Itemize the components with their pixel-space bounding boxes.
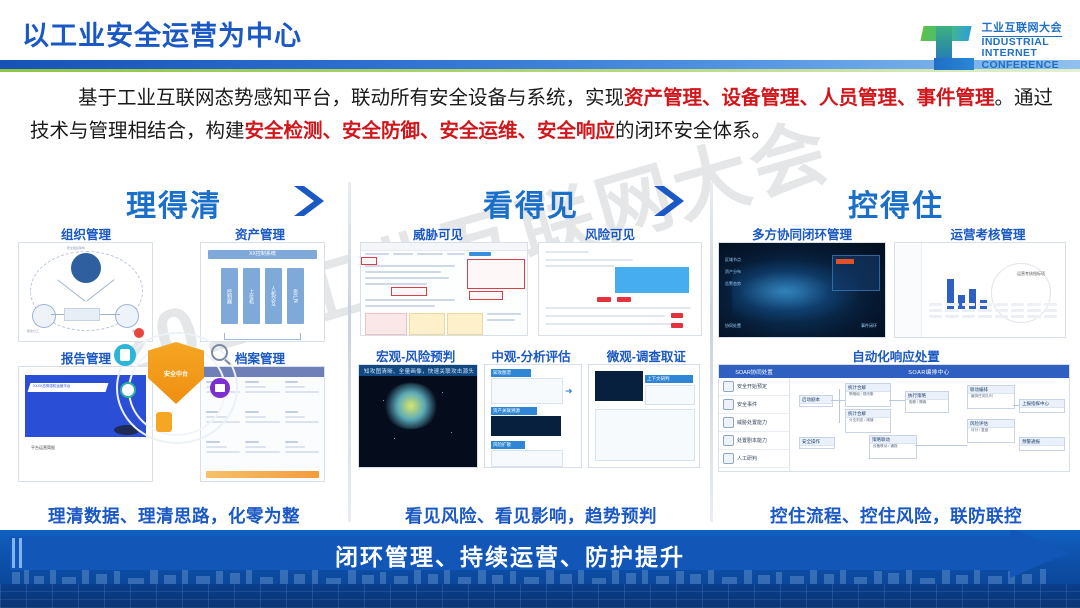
label-risk-visible: 风险可见: [550, 224, 670, 243]
label-micro-investigation: 微观-调查取证: [589, 346, 704, 365]
soar-sidebar-label-4: 人工研判: [737, 455, 757, 462]
soar-sidebar-label-2: 威胁处置能力: [737, 419, 767, 426]
column-2-header: 看得见: [358, 180, 704, 226]
slide-root: 以工业安全运营为中心 工业互联网大会 INDUSTRIAL INTERNET C…: [0, 0, 1080, 608]
asset-item-2: 人机交互: [265, 268, 282, 324]
soar-node-5[interactable]: 策略联动 设备联动 / 通报: [869, 435, 917, 459]
soar-node-2[interactable]: 统计合解 分支判定 / 阈值: [845, 409, 891, 433]
conference-logo: 工业互联网大会 INDUSTRIAL INTERNET CONFERENCE: [916, 22, 1063, 72]
intro-paragraph: 基于工业互联网态势感知平台，联动所有安全设备与系统，实现资产管理、设备管理、人员…: [30, 82, 1054, 148]
soar-sidebar[interactable]: SOAR协同处置 安全开始预定 安全事件 威胁处置能: [719, 365, 790, 471]
column-divider-2: [710, 182, 713, 522]
soar-sidebar-item-3[interactable]: 处置剧本能力: [719, 432, 789, 450]
soar-node-1[interactable]: 统计合解 策略组 / 规则集: [845, 383, 891, 407]
column-divider-1: [348, 182, 351, 522]
column-2-row-2: 宏观-风险预判 中观-分析评估 微观-调查取证 知攻图清晰、全量画像，快速关联攻…: [358, 346, 704, 492]
label-operation-assessment: 运营考核管理: [908, 224, 1068, 243]
label-asset-management: 资产管理: [200, 224, 320, 243]
soar-node-6[interactable]: 联动编排 编排任务队列: [967, 385, 1015, 409]
screenshot-evidence-panel[interactable]: 上下文研判: [588, 364, 700, 468]
soar-node-0[interactable]: 启动剧本: [799, 395, 833, 407]
screenshot-situation-map[interactable]: 区域节点 资产分布 告警态势 协同处置 事件闭环: [718, 242, 886, 338]
soar-node-label-0: 启动剧本: [800, 396, 832, 404]
column-3-row-1: 多方协同闭环管理 运营考核管理 区域节点 资产分布 告警态势 协同处置 事件闭环: [718, 224, 1074, 350]
logo-title-cn: 工业互联网大会: [982, 23, 1063, 37]
soar-node-label-4: 安全操作: [800, 438, 834, 446]
security-platform-cluster: 安全中台: [112, 326, 240, 446]
soar-node-9[interactable]: 预警通报: [1019, 437, 1065, 451]
soar-node-label-2: 统计合解: [846, 410, 890, 418]
label-automated-response: 自动化响应处置: [718, 346, 1074, 365]
label-multiparty-closed-loop: 多方协同闭环管理: [722, 224, 882, 243]
attack-graph-banner: 知攻图清晰、全量画像，快速关联攻击源头: [359, 365, 477, 376]
column-3-header: 控得住: [718, 180, 1074, 226]
soar-node-label-5: 策略联动: [870, 436, 916, 444]
label-threat-visible: 威胁可见: [378, 224, 498, 243]
bottom-banner: 闭环管理、持续运营、防护提升: [0, 530, 1080, 608]
alert-dot-icon: [134, 328, 144, 338]
folder-icon: [156, 412, 172, 432]
soar-node-label-6: 联动编排: [968, 386, 1014, 394]
paragraph-segment-3: 的闭环安全体系。: [615, 120, 771, 142]
banner-text: 闭环管理、持续运营、防护提升: [0, 538, 1020, 572]
soar-sidebar-label-0: 安全开始预定: [737, 383, 767, 390]
soar-sidebar-header: SOAR协同处置: [719, 365, 789, 378]
playbook-icon: [723, 435, 734, 446]
asset-diagram-header: XX控制系统: [208, 250, 317, 259]
soar-sidebar-item-1[interactable]: 安全事件: [719, 396, 789, 414]
soar-main-header: SOAR编排中心: [789, 365, 1069, 378]
screenshot-kpi-report[interactable]: 运营考核指标项: [894, 242, 1066, 338]
people-icon: [723, 453, 734, 464]
column-controllable: 控得住 多方协同闭环管理 运营考核管理 区域节点 资产分布 告警态势 协同处置 …: [718, 180, 1074, 530]
soar-node-4[interactable]: 安全操作: [799, 437, 835, 449]
flow-card-label-0: 知攻图谱: [491, 369, 531, 377]
threat-icon: [723, 417, 734, 428]
screenshot-soar-console[interactable]: SOAR协同处置 安全开始预定 安全事件 威胁处置能: [718, 364, 1070, 472]
asset-diagram-items: 控制器 上位机 人机交互 资产N: [208, 268, 317, 324]
paragraph-highlight-1: 资产管理、设备管理、人员管理、事件管理: [624, 87, 995, 109]
column-3-row-2: 自动化响应处置 SOAR协同处置 安全开始预定 安全事件: [718, 346, 1074, 492]
column-2-tri-labels: 宏观-风险预判 中观-分析评估 微观-调查取证: [358, 346, 704, 365]
screenshot-attack-graph[interactable]: 知攻图清晰、全量画像，快速关联攻击源头: [358, 364, 478, 468]
flow-card-label-3: 上下文研判: [645, 375, 693, 383]
flow-card-label-1: 资产关联溯源: [491, 407, 537, 415]
column-2-title: 看得见: [483, 181, 579, 225]
label-meso-analysis: 中观-分析评估: [473, 346, 588, 365]
soar-node-label-3: 执行策略: [906, 392, 948, 400]
column-1-header: 理得清: [4, 180, 344, 226]
soar-node-label-1: 统计合解: [846, 384, 890, 392]
screenshot-risk-dashboard[interactable]: [538, 242, 702, 336]
asset-item-1: 上位机: [243, 268, 260, 324]
soar-sidebar-item-2[interactable]: 威胁处置能力: [719, 414, 789, 432]
screenshot-threat-dashboard[interactable]: [360, 242, 528, 336]
column-1-footer: 理清数据、理清思路，化零为整: [4, 503, 344, 528]
chevron-right-icon: [650, 184, 690, 218]
shield-label: 安全中台: [164, 369, 188, 378]
soar-sidebar-item-4[interactable]: 人工研判: [719, 450, 789, 468]
paragraph-highlight-2: 安全检测、安全防御、安全运维、安全响应: [245, 120, 616, 142]
soar-sidebar-item-0[interactable]: 安全开始预定: [719, 378, 789, 396]
search-icon: [211, 344, 228, 361]
soar-node-8[interactable]: 上报指挥中心: [1019, 399, 1065, 413]
column-2-row-1: 威胁可见 风险可见: [358, 224, 704, 350]
logo-title-en-2: INTERNET: [982, 48, 1063, 59]
column-manage-clear: 理得清 组织管理 资产管理: [4, 180, 344, 530]
column-3-title: 控得住: [848, 181, 944, 225]
report-caption: 平台运营简报: [31, 445, 55, 451]
cart-icon: [210, 378, 230, 398]
soar-sidebar-label-1: 安全事件: [737, 401, 757, 408]
logo-mark-icon: [916, 22, 976, 72]
soar-node-3[interactable]: 执行策略 阻断 / 隔离: [905, 391, 949, 413]
column-visible: 看得见 威胁可见 风险可见: [358, 180, 704, 530]
soar-sidebar-label-3: 处置剧本能力: [737, 437, 767, 444]
label-org-management: 组织管理: [26, 224, 146, 243]
event-icon: [723, 399, 734, 410]
logo-title-en-3: CONFERENCE: [982, 60, 1063, 71]
flow-card-label-2: 风险扩散: [491, 441, 525, 449]
page-title: 以工业安全运营为中心: [22, 14, 302, 53]
asset-item-0: 控制器: [221, 268, 238, 324]
soar-node-7[interactable]: 风险评估 评分 / 复盘: [967, 419, 1015, 443]
column-1-title: 理得清: [126, 181, 222, 225]
screenshot-analysis-flow[interactable]: 知攻图谱 资产关联溯源 风险扩散 ➜: [484, 364, 582, 468]
chat-bubble-icon: [114, 344, 136, 366]
chevron-right-icon: [290, 184, 330, 218]
shield-small-icon: [120, 382, 136, 398]
three-column-section: 理得清 组织管理 资产管理: [0, 180, 1080, 530]
soar-node-label-7: 风险评估: [968, 420, 1014, 428]
paragraph-segment-1: 基于工业互联网态势感知平台，联动所有安全设备与系统，实现: [78, 87, 624, 109]
asset-item-3: 资产N: [287, 268, 304, 324]
label-macro-risk-prediction: 宏观-风险预判: [358, 346, 473, 365]
shield-icon: [723, 381, 734, 392]
column-2-footer: 看见风险、看见影响，趋势预判: [358, 503, 704, 528]
column-3-footer: 控住流程、控住风险，联防联控: [718, 503, 1074, 528]
